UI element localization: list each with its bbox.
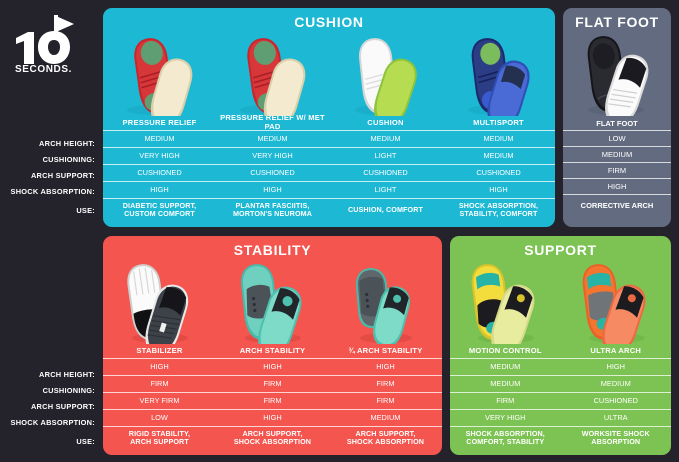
cell-arch-height: HIGH	[103, 359, 216, 375]
product-name: FLAT FOOT	[563, 116, 671, 130]
panel-cushion: CUSHION	[103, 8, 555, 227]
table-row-header: MOTION CONTROL ULTRA ARCH	[450, 344, 671, 358]
cell-arch-height: HIGH	[216, 359, 329, 375]
table-row: LOW HIGH MEDIUM	[103, 409, 442, 426]
table-row: FIRM CUSHIONED	[450, 392, 671, 409]
insole-image-multisport	[442, 30, 555, 116]
cell-shock-absorption: HIGH	[216, 182, 329, 198]
cell-arch-support: FIRM	[329, 393, 442, 409]
insole-image-pressure-relief-met-pad	[216, 30, 329, 116]
cell-arch-height: MEDIUM	[103, 131, 216, 147]
table-row: MEDIUM HIGH	[450, 358, 671, 375]
row-label-arch-support: ARCH SUPPORT:	[0, 398, 100, 414]
cell-use: PLANTAR FASCIITIS, MORTON'S NEUROMA	[216, 199, 329, 221]
insole-image-three-quarter-arch-stability	[329, 258, 442, 344]
product-name: PRESSURE RELIEF	[103, 116, 216, 130]
product-name: STABILIZER	[103, 344, 216, 358]
cell-arch-support: CUSHIONED	[561, 393, 672, 409]
svg-text:SECONDS.: SECONDS.	[15, 64, 72, 74]
row-labels-top: ARCH HEIGHT: CUSHIONING: ARCH SUPPORT: S…	[0, 135, 100, 221]
table-row: HIGH HIGH LIGHT HIGH	[103, 181, 555, 198]
table-row-header: STABILIZER ARCH STABILITY ¾ ARCH STABILI…	[103, 344, 442, 358]
cell-cushioning: VERY HIGH	[103, 148, 216, 164]
product-name: ¾ ARCH STABILITY	[329, 344, 442, 358]
stability-spec-table: STABILIZER ARCH STABILITY ¾ ARCH STABILI…	[103, 344, 442, 449]
cell-use: SHOCK ABSORPTION, COMFORT, STABILITY	[450, 427, 561, 449]
insole-image-cushion	[329, 30, 442, 116]
cell-cushioning: FIRM	[103, 376, 216, 392]
cell-arch-support: CUSHIONED	[216, 165, 329, 181]
stability-product-images	[103, 258, 442, 344]
cell-use: CUSHION, COMFORT	[329, 199, 442, 221]
insole-image-ultra-arch	[561, 258, 672, 344]
cell-arch-support: FIRM	[216, 393, 329, 409]
cell-arch-support: FIRM	[450, 393, 561, 409]
cell-arch-height: MEDIUM	[216, 131, 329, 147]
support-spec-table: MOTION CONTROL ULTRA ARCH MEDIUM HIGH ME…	[450, 344, 671, 449]
cell-arch-support: CUSHIONED	[329, 165, 442, 181]
product-name: ARCH STABILITY	[216, 344, 329, 358]
row-label-use: USE:	[0, 199, 100, 221]
cushion-product-images	[103, 30, 555, 116]
cell-arch-support: CUSHIONED	[103, 165, 216, 181]
product-name: MULTISPORT	[442, 116, 555, 130]
cell-arch-height: HIGH	[561, 359, 672, 375]
cell-cushioning: LIGHT	[329, 148, 442, 164]
cell-shock-absorption: VERY HIGH	[450, 410, 561, 426]
insole-image-pressure-relief	[103, 30, 216, 116]
table-row: RIGID STABILITY, ARCH SUPPORT ARCH SUPPO…	[103, 426, 442, 449]
product-name: CUSHION	[329, 116, 442, 130]
cell-arch-support: VERY FIRM	[103, 393, 216, 409]
cell-shock-absorption: LIGHT	[329, 182, 442, 198]
cell-cushioning: MEDIUM	[563, 146, 671, 162]
cell-arch-height: MEDIUM	[329, 131, 442, 147]
flat-foot-spec-table: FLAT FOOT LOW MEDIUM FIRM HIGH CORRECTIV…	[563, 116, 671, 216]
panel-title-stability: STABILITY	[103, 236, 442, 258]
cell-arch-height: HIGH	[329, 359, 442, 375]
table-row: VERY HIGH VERY HIGH LIGHT MEDIUM	[103, 147, 555, 164]
table-row: HIGH HIGH HIGH	[103, 358, 442, 375]
cell-use: ARCH SUPPORT, SHOCK ABSORPTION	[216, 427, 329, 449]
insole-image-motion-control	[450, 258, 561, 344]
table-row: SHOCK ABSORPTION, COMFORT, STABILITY WOR…	[450, 426, 671, 449]
cell-shock-absorption: HIGH	[103, 182, 216, 198]
flat-foot-product-images	[563, 30, 671, 116]
table-row: MEDIUM MEDIUM MEDIUM MEDIUM	[103, 130, 555, 147]
cell-arch-height: MEDIUM	[442, 131, 555, 147]
table-row: FIRM FIRM FIRM	[103, 375, 442, 392]
panel-stability: STABILITY	[103, 236, 442, 455]
cell-shock-absorption: HIGH	[216, 410, 329, 426]
cell-shock-absorption: ULTRA	[561, 410, 672, 426]
cell-shock-absorption: HIGH	[563, 178, 671, 194]
table-row: MEDIUM MEDIUM	[450, 375, 671, 392]
row-label-cushioning: CUSHIONING:	[0, 151, 100, 167]
cell-use: WORKSITE SHOCK ABSORPTION	[561, 427, 672, 449]
table-row-header: PRESSURE RELIEF PRESSURE RELIEF W/ MET P…	[103, 116, 555, 130]
table-row: CUSHIONED CUSHIONED CUSHIONED CUSHIONED	[103, 164, 555, 181]
row-label-shock-absorption: SHOCK ABSORPTION:	[0, 414, 100, 430]
cell-arch-height: LOW	[563, 130, 671, 146]
cell-use: SHOCK ABSORPTION, STABILITY, COMFORT	[442, 199, 555, 221]
row-labels-bottom: ARCH HEIGHT: CUSHIONING: ARCH SUPPORT: S…	[0, 366, 100, 452]
cell-cushioning: MEDIUM	[442, 148, 555, 164]
table-row: VERY HIGH ULTRA	[450, 409, 671, 426]
row-label-arch-height: ARCH HEIGHT:	[0, 135, 100, 151]
cell-use: CORRECTIVE ARCH	[563, 194, 671, 216]
cell-shock-absorption: MEDIUM	[329, 410, 442, 426]
cell-arch-height: MEDIUM	[450, 359, 561, 375]
table-row: DIABETIC SUPPORT, CUSTOM COMFORT PLANTAR…	[103, 198, 555, 221]
cell-cushioning: MEDIUM	[450, 376, 561, 392]
cell-cushioning: VERY HIGH	[216, 148, 329, 164]
row-label-arch-height: ARCH HEIGHT:	[0, 366, 100, 382]
cell-use: ARCH SUPPORT, SHOCK ABSORPTION	[329, 427, 442, 449]
cell-use: RIGID STABILITY, ARCH SUPPORT	[103, 427, 216, 449]
brand-logo: SECONDS.	[12, 12, 90, 74]
cell-shock-absorption: HIGH	[442, 182, 555, 198]
row-label-arch-support: ARCH SUPPORT:	[0, 167, 100, 183]
panel-title-flat-foot: FLAT FOOT	[563, 8, 671, 30]
insole-image-flat-foot	[563, 30, 671, 116]
cell-shock-absorption: LOW	[103, 410, 216, 426]
insole-image-stabilizer	[103, 258, 216, 344]
insole-image-arch-stability	[216, 258, 329, 344]
panel-flat-foot: FLAT FOOT	[563, 8, 671, 227]
comparison-chart: SECONDS. ARCH HEIGHT: CUSHIONING: ARCH S…	[0, 0, 679, 462]
product-name: MOTION CONTROL	[450, 344, 561, 358]
cushion-spec-table: PRESSURE RELIEF PRESSURE RELIEF W/ MET P…	[103, 116, 555, 221]
cell-cushioning: FIRM	[329, 376, 442, 392]
cell-cushioning: FIRM	[216, 376, 329, 392]
row-label-use: USE:	[0, 430, 100, 452]
panel-support: SUPPORT	[450, 236, 671, 455]
support-product-images	[450, 258, 671, 344]
cell-arch-support: CUSHIONED	[442, 165, 555, 181]
row-label-cushioning: CUSHIONING:	[0, 382, 100, 398]
product-name: ULTRA ARCH	[561, 344, 672, 358]
table-row: VERY FIRM FIRM FIRM	[103, 392, 442, 409]
cell-arch-support: FIRM	[563, 162, 671, 178]
cell-cushioning: MEDIUM	[561, 376, 672, 392]
product-name: PRESSURE RELIEF W/ MET PAD	[216, 116, 329, 130]
panel-title-cushion: CUSHION	[103, 8, 555, 30]
panel-title-support: SUPPORT	[450, 236, 671, 258]
row-label-shock-absorption: SHOCK ABSORPTION:	[0, 183, 100, 199]
cell-use: DIABETIC SUPPORT, CUSTOM COMFORT	[103, 199, 216, 221]
